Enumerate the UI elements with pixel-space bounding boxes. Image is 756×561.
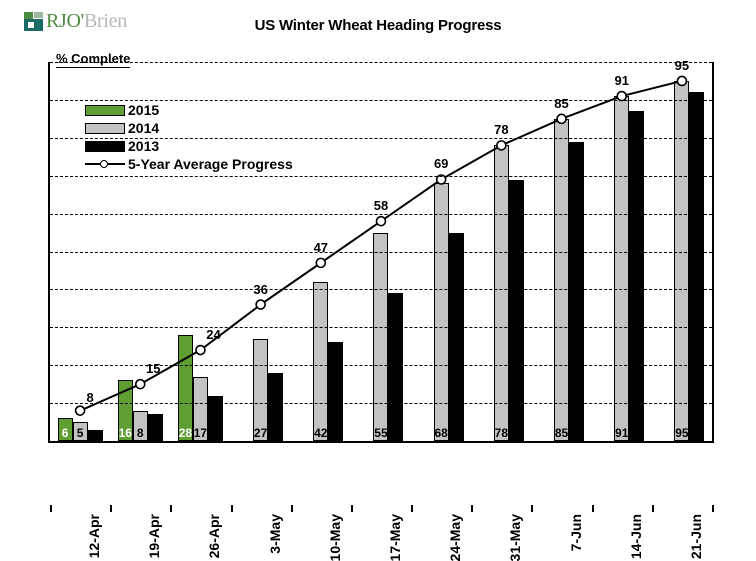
legend-swatch-2013 <box>85 141 125 152</box>
bar-2013-31-May[interactable] <box>509 180 524 442</box>
bar-2013-24-May[interactable] <box>449 233 464 441</box>
gridline <box>50 214 712 215</box>
legend-line-swatch-icon <box>85 158 125 170</box>
legend-swatch-2015 <box>85 105 125 116</box>
x-axis-tick-mark <box>50 505 52 512</box>
x-axis-label-7-Jun: 7-Jun <box>569 514 583 551</box>
bar-2014-21-Jun[interactable] <box>674 81 689 441</box>
x-axis-label-24-May: 24-May <box>448 514 462 561</box>
legend-item-2014[interactable]: 2014 <box>85 120 293 136</box>
legend-label: 2014 <box>128 120 159 136</box>
chart-header: RJO'Brien US Winter Wheat Heading Progre… <box>0 0 756 46</box>
x-axis-label-21-Jun: 21-Jun <box>689 514 703 559</box>
chart-legend: 2015201420135-Year Average Progress <box>85 102 293 174</box>
legend-label: 5-Year Average Progress <box>128 156 293 172</box>
bar-value-label-2014-12-Apr: 5 <box>70 427 90 439</box>
bar-value-label-2014-31-May: 78 <box>491 427 511 439</box>
x-axis-tick-mark <box>652 505 654 512</box>
bar-value-label-2014-24-May: 68 <box>431 427 451 439</box>
average-value-label-21-Jun: 95 <box>662 59 702 72</box>
legend-item-2013[interactable]: 2013 <box>85 138 293 154</box>
bar-2014-14-Jun[interactable] <box>614 96 629 441</box>
x-axis-tick-mark <box>231 505 233 512</box>
average-value-label-14-Jun: 91 <box>602 74 642 87</box>
x-axis-label-12-Apr: 12-Apr <box>87 514 101 558</box>
average-value-label-26-Apr: 24 <box>193 328 233 341</box>
average-value-label-10-May: 47 <box>301 241 341 254</box>
x-axis-tick-mark <box>351 505 353 512</box>
bar-value-label-2014-21-Jun: 95 <box>672 427 692 439</box>
bar-value-label-2014-19-Apr: 8 <box>130 427 150 439</box>
average-value-label-3-May: 36 <box>241 283 281 296</box>
legend-label: 2013 <box>128 138 159 154</box>
gridline <box>50 176 712 177</box>
legend-item-5-year-average-progress[interactable]: 5-Year Average Progress <box>85 156 293 172</box>
average-value-label-12-Apr: 8 <box>70 391 110 404</box>
bar-2013-21-Jun[interactable] <box>689 92 704 441</box>
gridline <box>50 100 712 101</box>
bar-2013-14-Jun[interactable] <box>629 111 644 441</box>
legend-item-2015[interactable]: 2015 <box>85 102 293 118</box>
x-axis-tick-mark <box>291 505 293 512</box>
x-axis-tick-mark <box>170 505 172 512</box>
legend-swatch-2014 <box>85 123 125 134</box>
x-axis-tick-mark <box>110 505 112 512</box>
page-title: US Winter Wheat Heading Progress <box>0 17 756 34</box>
gridline <box>50 289 712 290</box>
bar-2013-7-Jun[interactable] <box>569 142 584 441</box>
gridline <box>50 403 712 404</box>
x-axis-tick-mark <box>411 505 413 512</box>
bar-value-label-2014-7-Jun: 85 <box>552 427 572 439</box>
x-axis-label-31-May: 31-May <box>508 514 522 561</box>
bar-value-label-2014-3-May: 27 <box>251 427 271 439</box>
bar-value-label-2014-10-May: 42 <box>311 427 331 439</box>
average-value-label-24-May: 69 <box>421 157 461 170</box>
x-axis-label-26-Apr: 26-Apr <box>207 514 221 558</box>
x-axis-tick-mark <box>471 505 473 512</box>
x-axis-label-10-May: 10-May <box>328 514 342 561</box>
bar-2014-17-May[interactable] <box>373 233 388 441</box>
x-axis-label-14-Jun: 14-Jun <box>629 514 643 559</box>
bar-2014-31-May[interactable] <box>494 145 509 441</box>
bar-value-label-2014-17-May: 55 <box>371 427 391 439</box>
bar-value-label-2014-14-Jun: 91 <box>612 427 632 439</box>
gridline <box>50 252 712 253</box>
legend-label: 2015 <box>128 102 159 118</box>
x-axis-tick-mark <box>712 505 714 512</box>
average-value-label-17-May: 58 <box>361 199 401 212</box>
bar-2013-17-May[interactable] <box>388 293 403 441</box>
average-value-label-19-Apr: 15 <box>133 362 173 375</box>
x-axis-tick-mark <box>592 505 594 512</box>
average-value-label-7-Jun: 85 <box>542 97 582 110</box>
bar-value-label-2014-26-Apr: 17 <box>190 427 210 439</box>
x-axis-label-19-Apr: 19-Apr <box>147 514 161 558</box>
x-axis-label-3-May: 3-May <box>268 514 282 554</box>
x-axis-label-17-May: 17-May <box>388 514 402 561</box>
bar-2014-10-May[interactable] <box>313 282 328 441</box>
bar-2014-7-Jun[interactable] <box>554 119 569 441</box>
gridline <box>50 327 712 328</box>
average-value-label-31-May: 78 <box>481 123 521 136</box>
x-axis-tick-mark <box>531 505 533 512</box>
